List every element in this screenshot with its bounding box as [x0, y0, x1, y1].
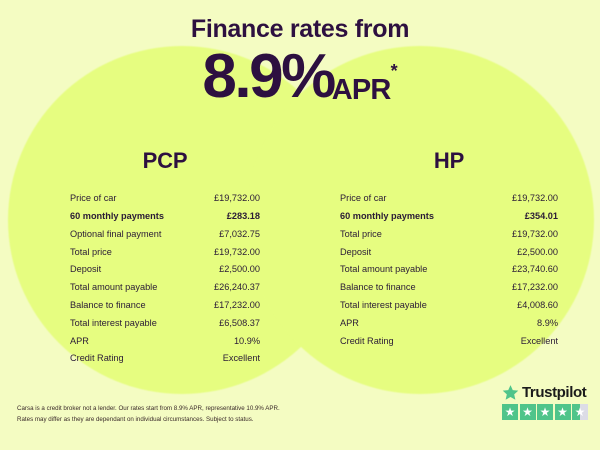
row-value: £7,032.75	[219, 230, 260, 239]
row-label: Credit Rating	[70, 354, 124, 363]
table-row: Total amount payable £23,740.60	[340, 261, 558, 279]
table-row: Total price £19,732.00	[340, 226, 558, 244]
trustpilot-brand: Trustpilot	[502, 384, 588, 401]
row-value: £2,500.00	[219, 265, 260, 274]
row-label: Optional final payment	[70, 230, 161, 239]
table-row: APR 8.9%	[340, 315, 558, 333]
disclaimer-line-2: Rates may differ as they are dependant o…	[17, 415, 347, 426]
row-value: £19,732.00	[512, 194, 558, 203]
table-row: Balance to finance £17,232.00	[70, 297, 260, 315]
finance-tables: PCP Price of car £19,732.00 60 monthly p…	[0, 148, 600, 368]
row-value: £19,732.00	[512, 230, 558, 239]
row-label: 60 monthly payments	[340, 212, 434, 221]
table-row: Credit Rating Excellent	[70, 350, 260, 368]
rate-value: 8.9%	[202, 46, 333, 108]
rate-unit: APR	[332, 76, 391, 108]
headline-rate: 8.9% APR *	[0, 44, 600, 108]
header: Finance rates from 8.9% APR *	[0, 0, 600, 108]
star-glyph: ★	[540, 406, 551, 418]
table-row: Total interest payable £4,008.60	[340, 297, 558, 315]
star-glyph: ★	[505, 406, 516, 418]
table-hp-title: HP	[340, 148, 558, 174]
row-label: Price of car	[340, 194, 386, 203]
table-row: 60 monthly payments £283.18	[70, 208, 260, 226]
row-label: Total price	[340, 230, 382, 239]
trustpilot-widget[interactable]: Trustpilot ★ ★ ★ ★ ★	[502, 384, 588, 420]
star-icon: ★	[520, 404, 536, 420]
row-value: 10.9%	[234, 337, 260, 346]
row-label: Credit Rating	[340, 337, 394, 346]
trustpilot-star-icon	[502, 384, 519, 401]
row-value: £4,008.60	[517, 301, 558, 310]
row-value: £354.01	[525, 212, 558, 221]
row-label: APR	[340, 319, 359, 328]
row-value: 8.9%	[537, 319, 558, 328]
row-label: Balance to finance	[70, 301, 146, 310]
row-label: Balance to finance	[340, 283, 416, 292]
star-icon: ★	[555, 404, 571, 420]
row-label: Total interest payable	[340, 301, 427, 310]
star-glyph: ★	[575, 406, 586, 418]
finance-rates-poster: Finance rates from 8.9% APR * PCP Price …	[0, 0, 600, 450]
page-title: Finance rates from	[0, 0, 600, 44]
star-icon: ★	[537, 404, 553, 420]
row-label: Deposit	[340, 248, 371, 257]
table-row: Total interest payable £6,508.37	[70, 315, 260, 333]
table-pcp: PCP Price of car £19,732.00 60 monthly p…	[0, 148, 300, 368]
row-label: Deposit	[70, 265, 101, 274]
trustpilot-wordmark: Trustpilot	[522, 385, 586, 400]
table-hp: HP Price of car £19,732.00 60 monthly pa…	[300, 148, 600, 368]
table-row: Deposit £2,500.00	[340, 243, 558, 261]
row-label: Total interest payable	[70, 319, 157, 328]
table-row: Total amount payable £26,240.37	[70, 279, 260, 297]
row-value: £17,232.00	[214, 301, 260, 310]
row-value: £26,240.37	[214, 283, 260, 292]
star-glyph: ★	[557, 406, 568, 418]
rate-footnote-asterisk: *	[391, 46, 398, 80]
table-row: Optional final payment £7,032.75	[70, 226, 260, 244]
row-value: £19,732.00	[214, 194, 260, 203]
table-row: Price of car £19,732.00	[340, 190, 558, 208]
row-label: Price of car	[70, 194, 116, 203]
disclaimer-text: Carsa is a credit broker not a lender. O…	[17, 404, 347, 426]
row-value: £6,508.37	[219, 319, 260, 328]
trustpilot-rating-stars: ★ ★ ★ ★ ★	[502, 404, 588, 420]
row-label: Total amount payable	[70, 283, 157, 292]
row-value: £283.18	[227, 212, 260, 221]
row-value: £19,732.00	[214, 248, 260, 257]
table-row: Balance to finance £17,232.00	[340, 279, 558, 297]
table-row: Credit Rating Excellent	[340, 332, 558, 350]
row-label: Total price	[70, 248, 112, 257]
star-icon: ★	[502, 404, 518, 420]
table-row: Deposit £2,500.00	[70, 261, 260, 279]
row-value: £2,500.00	[517, 248, 558, 257]
table-row: Total price £19,732.00	[70, 243, 260, 261]
row-value: £17,232.00	[512, 283, 558, 292]
table-row: 60 monthly payments £354.01	[340, 208, 558, 226]
star-glyph: ★	[522, 406, 533, 418]
table-row: Price of car £19,732.00	[70, 190, 260, 208]
table-pcp-title: PCP	[70, 148, 260, 174]
row-value: £23,740.60	[512, 265, 558, 274]
table-row: APR 10.9%	[70, 332, 260, 350]
disclaimer-line-1: Carsa is a credit broker not a lender. O…	[17, 404, 347, 415]
row-label: Total amount payable	[340, 265, 427, 274]
row-value: Excellent	[223, 354, 260, 363]
row-label: APR	[70, 337, 89, 346]
row-value: Excellent	[521, 337, 558, 346]
row-label: 60 monthly payments	[70, 212, 164, 221]
star-half-icon: ★	[572, 404, 588, 420]
